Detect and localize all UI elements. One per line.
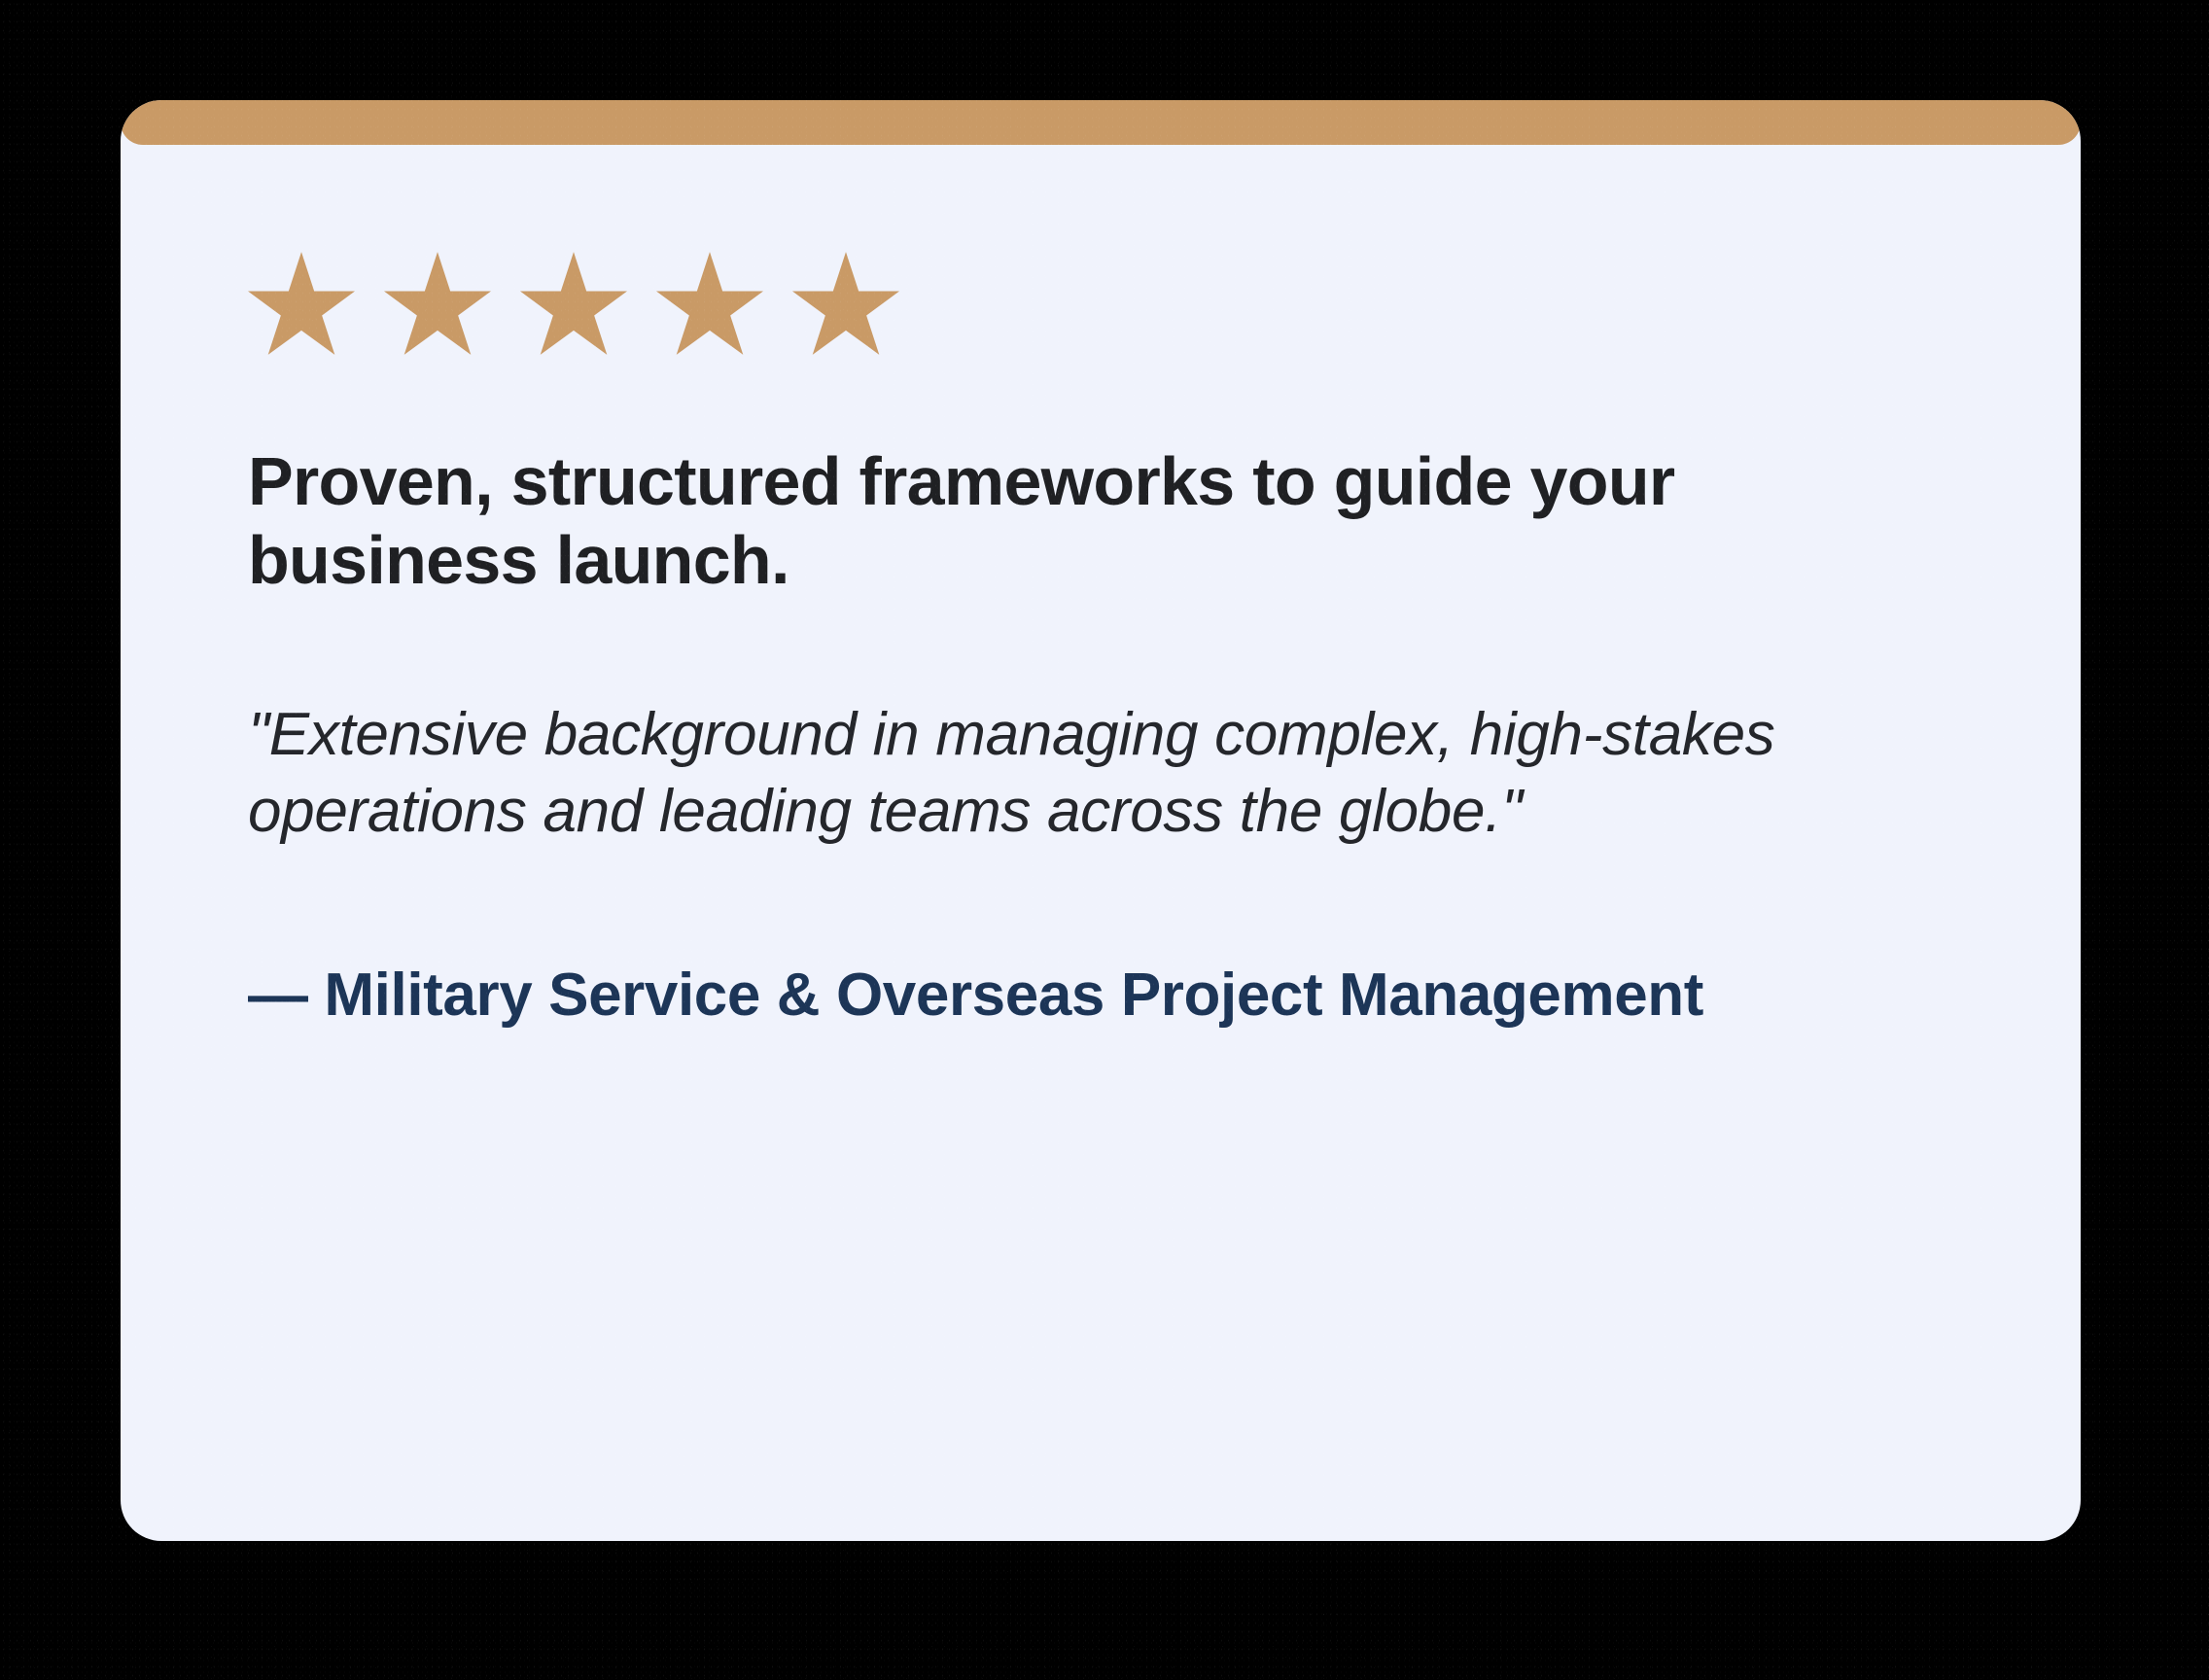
star-icon [520,252,627,355]
headline: Proven, structured frameworks to guide y… [248,442,1959,599]
star-icon [384,252,491,355]
attribution: — Military Service & Overseas Project Ma… [248,960,1901,1032]
card-content: Proven, structured frameworks to guide y… [248,252,1979,1032]
star-rating [248,252,1979,355]
accent-bar [121,100,2081,145]
quote-text: "Extensive background in managing comple… [248,696,1920,851]
star-icon [792,252,899,355]
star-icon [248,252,355,355]
testimonial-card: Proven, structured frameworks to guide y… [121,100,2081,1541]
star-icon [656,252,763,355]
